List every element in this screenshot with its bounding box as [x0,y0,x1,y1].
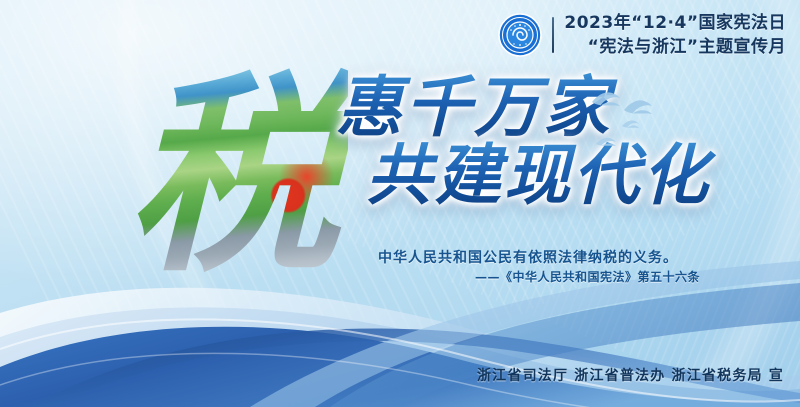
quote-text: 中华人民共和国公民有依照法律纳税的义务。 [352,248,704,268]
header-banner: 2023年“12·4”国家宪法日 “宪法与浙江”主题宣传月 [498,12,786,58]
header-line-2: “宪法与浙江”主题宣传月 [564,36,786,58]
poster-canvas: 2023年“12·4”国家宪法日 “宪法与浙江”主题宣传月 税 税 惠千万家 共… [0,0,800,407]
tax-character-graphic: 税 税 [118,62,348,292]
national-emblem-icon [498,13,542,57]
tax-character-fill: 税 [118,62,348,292]
footer-sponsors: 浙江省司法厅 浙江省普法办 浙江省税务局 宣 [477,365,784,385]
title-line-1: 惠千万家 [336,72,718,144]
title-line-2: 共建现代化 [366,140,718,212]
main-title: 惠千万家 共建现代化 [318,72,718,252]
constitution-quote: 中华人民共和国公民有依照法律纳税的义务。 ——《中华人民共和国宪法》第五十六条 [352,248,704,287]
header-divider [552,17,554,53]
header-line-1: 2023年“12·4”国家宪法日 [564,12,786,34]
quote-source: ——《中华人民共和国宪法》第五十六条 [352,268,704,287]
header-text: 2023年“12·4”国家宪法日 “宪法与浙江”主题宣传月 [564,12,786,58]
